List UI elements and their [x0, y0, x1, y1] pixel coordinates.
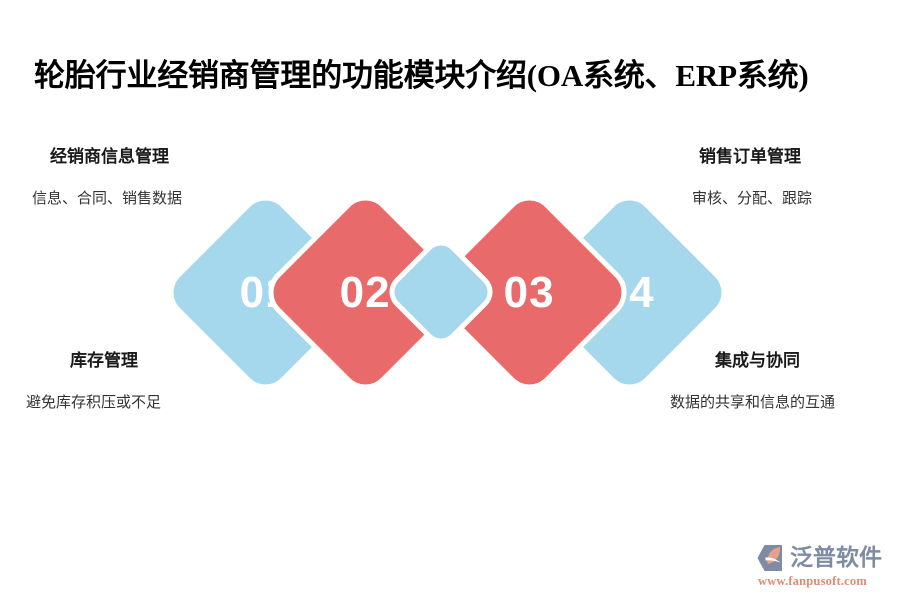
diamond-chain-diagram: 04 03 02 01 — [0, 0, 900, 600]
label-block-top-right: 销售订单管理 审核、分配、跟踪 — [692, 146, 892, 210]
label-heading-sales-order: 销售订单管理 — [692, 146, 892, 168]
label-heading-dealer-info: 经销商信息管理 — [32, 146, 272, 168]
label-desc-dealer-info: 信息、合同、销售数据 — [32, 188, 272, 210]
label-heading-integration: 集成与协同 — [670, 350, 895, 372]
brand-logo-url: www.fanpusoft.com — [756, 574, 892, 589]
slide-canvas: 轮胎行业经销商管理的功能模块介绍(OA系统、ERP系统) 04 03 02 01… — [0, 0, 900, 600]
brand-logo-name: 泛普软件 — [790, 545, 882, 571]
step-number-02: 02 — [340, 270, 391, 314]
step-number-03: 03 — [504, 270, 555, 314]
fanpu-shield-icon — [756, 544, 786, 572]
brand-logo-row: 泛普软件 — [756, 543, 892, 573]
label-desc-sales-order: 审核、分配、跟踪 — [692, 188, 892, 210]
label-desc-integration: 数据的共享和信息的互通 — [670, 392, 895, 414]
label-desc-inventory: 避免库存积压或不足 — [26, 392, 276, 414]
label-block-top-left: 经销商信息管理 信息、合同、销售数据 — [32, 146, 272, 210]
label-block-bottom-right: 集成与协同 数据的共享和信息的互通 — [670, 350, 895, 414]
brand-logo: 泛普软件 www.fanpusoft.com — [756, 543, 892, 589]
